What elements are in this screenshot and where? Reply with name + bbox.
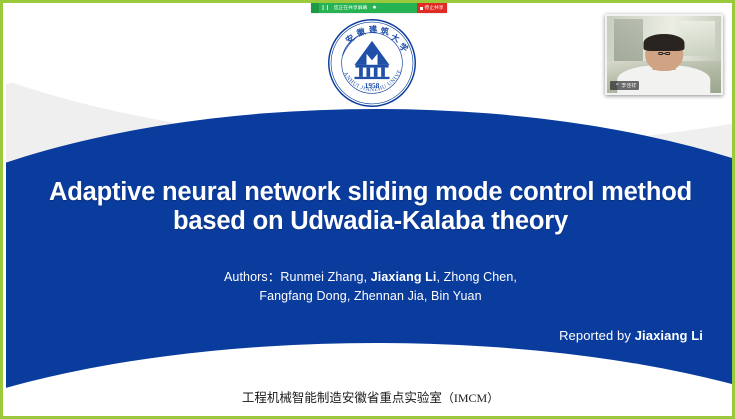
authors-highlight-name: Jiaxiang Li: [371, 270, 437, 284]
webcam-video-tile[interactable]: 🎤 李佳祥: [605, 14, 723, 95]
stop-share-button[interactable]: 停止共享: [417, 3, 447, 13]
slide-title-line-1: Adaptive neural network sliding mode con…: [6, 178, 735, 207]
authors-line-2: Fangfang Dong, Zhennan Jia, Bin Yuan: [6, 287, 735, 306]
share-settings-button[interactable]: ✸: [370, 3, 378, 13]
webcam-person-glasses: [658, 52, 670, 55]
stop-share-label: 停止共享: [424, 5, 443, 11]
share-status-text: 您正在共享屏幕: [331, 3, 370, 13]
pause-share-button[interactable]: ❙❙: [319, 3, 331, 13]
svg-text:大: 大: [390, 32, 402, 45]
webcam-glasses-bridge: [663, 53, 665, 54]
university-seal-icon: 1958 ANHUI JIANZHU UNIVERSITY 安 徽 建 筑 大 …: [308, 17, 436, 109]
webcam-glasses-right-lens: [665, 52, 670, 55]
reporter-prefix: Reported by: [559, 328, 635, 343]
screen-share-toolbar[interactable]: ❙❙ 您正在共享屏幕 ✸ 停止共享: [311, 3, 447, 13]
svg-text:学: 学: [398, 41, 411, 54]
slide-footer: 工程机械智能制造安徽省重点实验室（IMCM）: [6, 387, 735, 406]
slide-title-line-2: based on Udwadia-Kalaba theory: [6, 207, 735, 236]
reporter-line: Reported by Jiaxiang Li: [559, 328, 703, 343]
share-status-label: 您正在共享屏幕: [334, 5, 368, 11]
slide-title: Adaptive neural network sliding mode con…: [6, 178, 735, 236]
authors-names-after: , Zhong Chen,: [436, 270, 517, 284]
svg-text:建: 建: [367, 24, 378, 35]
svg-text:筑: 筑: [380, 26, 390, 37]
stop-square-icon: [420, 7, 423, 10]
reporter-name: Jiaxiang Li: [635, 328, 703, 343]
webcam-background-door: [614, 19, 644, 61]
authors-line-1: Authors：Runmei Zhang, Jiaxiang Li, Zhong…: [6, 268, 735, 287]
footer-abbreviation: （IMCM）: [442, 391, 499, 405]
microphone-icon: 🎤: [613, 83, 619, 89]
svg-text:安: 安: [344, 32, 356, 45]
footer-lab-name: 工程机械智能制造安徽省重点实验室: [242, 390, 442, 405]
gear-icon: ✸: [372, 5, 376, 11]
authors-block: Authors：Runmei Zhang, Jiaxiang Li, Zhong…: [6, 268, 735, 306]
webcam-background-window: [681, 21, 715, 56]
screen-share-frame: 1958 ANHUI JIANZHU UNIVERSITY 安 徽 建 筑 大 …: [0, 0, 735, 419]
webcam-person-hair: [643, 34, 684, 52]
webcam-name-badge: 🎤 李佳祥: [610, 81, 639, 90]
authors-prefix: Authors：: [224, 270, 280, 284]
toolbar-drag-handle[interactable]: [311, 3, 319, 13]
pause-icon: ❙❙: [321, 5, 329, 11]
webcam-participant-name: 李佳祥: [621, 83, 636, 89]
authors-names-before: Runmei Zhang,: [280, 270, 370, 284]
